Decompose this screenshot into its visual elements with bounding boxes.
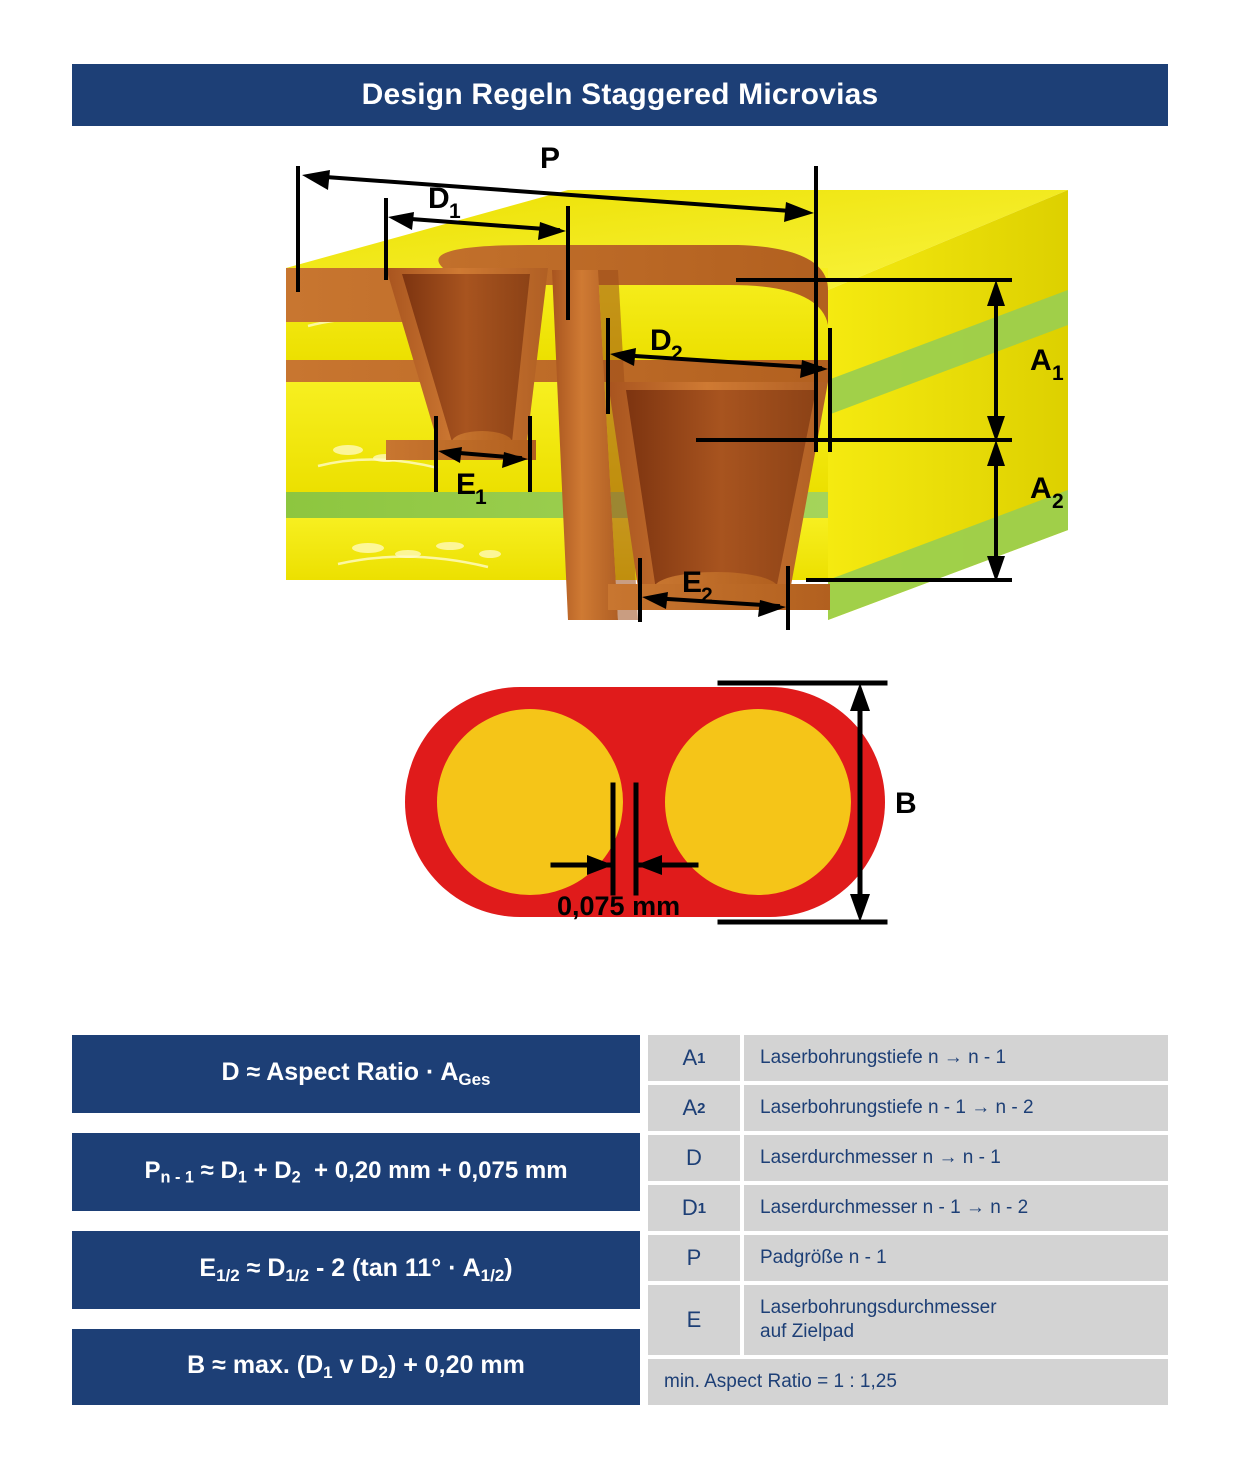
d2-label-sub: 2 [671,342,683,365]
legend-footer: min. Aspect Ratio = 1 : 1,25 [648,1359,1168,1405]
b-arrow-head-top [850,683,870,711]
legend-description: Laserbohrungsdurchmesser auf Zielpad [744,1285,1168,1355]
a1-label-sub: 1 [1052,362,1064,385]
formula-e-text: E1/2 ≈ D1/2 - 2 (tan 11° · A1/2) [199,1256,512,1284]
legend-description: Laserbohrungstiefe n - 1 → n - 2 [744,1085,1168,1131]
b-label: B [895,787,917,820]
legend-row-d1: D1 Laserdurchmesser n - 1 → n - 2 [648,1185,1168,1231]
e2-label-sub: 2 [701,584,713,607]
legend-row-d: D Laserdurchmesser n → n - 1 [648,1135,1168,1181]
legend-symbol: D1 [648,1185,740,1231]
legend-row-e: E Laserbohrungsdurchmesser auf Zielpad [648,1285,1168,1355]
pad-top-view-figure: 0,075 mm B [395,665,925,965]
formula-e-box: E1/2 ≈ D1/2 - 2 (tan 11° · A1/2) [72,1231,640,1309]
legend-symbol: D [648,1135,740,1181]
legend-symbol: E [648,1285,740,1355]
formula-list: D ≈ Aspect Ratio · AGes Pn - 1 ≈ D1 + D2… [72,1035,640,1405]
e2-label: E [682,566,702,599]
d2-label: D [650,324,672,357]
formula-b-text: B ≈ max. (D1 v D2) + 0,20 mm [187,1353,525,1381]
legend-symbol: A2 [648,1085,740,1131]
e1-label-sub: 1 [475,486,487,509]
legend-symbol: A1 [648,1035,740,1081]
legend-description: Padgröße n - 1 [744,1235,1168,1281]
legend-description: Laserbohrungstiefe n → n - 1 [744,1035,1168,1081]
gap-label: 0,075 mm [557,891,680,921]
legend-table: A1 Laserbohrungstiefe n → n - 1 A2 Laser… [648,1035,1168,1405]
b-arrow-head-bottom [850,894,870,922]
legend-row-a1: A1 Laserbohrungstiefe n → n - 1 [648,1035,1168,1081]
legend-description: Laserdurchmesser n → n - 1 [744,1135,1168,1181]
legend-description: Laserdurchmesser n - 1 → n - 2 [744,1185,1168,1231]
formula-p-text: Pn - 1 ≈ D1 + D2 + 0,20 mm + 0,075 mm [144,1159,567,1186]
legend-description-line1: Laserbohrungsdurchmesser [760,1297,997,1318]
a1-label: A [1030,344,1052,377]
d1-arrow-head-left [388,212,414,230]
title-bar: Design Regeln Staggered Microvias [72,64,1168,126]
page-title: Design Regeln Staggered Microvias [362,78,879,112]
formula-d-text: D ≈ Aspect Ratio · AGes [221,1060,490,1088]
d1-label-sub: 1 [449,200,461,223]
legend-symbol: P [648,1235,740,1281]
legend-description-line2: auf Zielpad [760,1321,854,1342]
formula-b-box: B ≈ max. (D1 v D2) + 0,20 mm [72,1329,640,1405]
d1-label: D [428,182,450,215]
p-label: P [540,142,560,175]
a2-label: A [1030,472,1052,505]
p-arrow-head-left [302,170,330,190]
formula-d-box: D ≈ Aspect Ratio · AGes [72,1035,640,1113]
formula-p-box: Pn - 1 ≈ D1 + D2 + 0,20 mm + 0,075 mm [72,1133,640,1211]
a2-label-sub: 2 [1052,490,1064,513]
legend-row-a2: A2 Laserbohrungstiefe n - 1 → n - 2 [648,1085,1168,1131]
legend-row-p: P Padgröße n - 1 [648,1235,1168,1281]
e1-label: E [456,468,476,501]
microvia-3d-figure: P D 1 D 2 E 1 E 2 A 1 A 2 [268,150,1088,640]
